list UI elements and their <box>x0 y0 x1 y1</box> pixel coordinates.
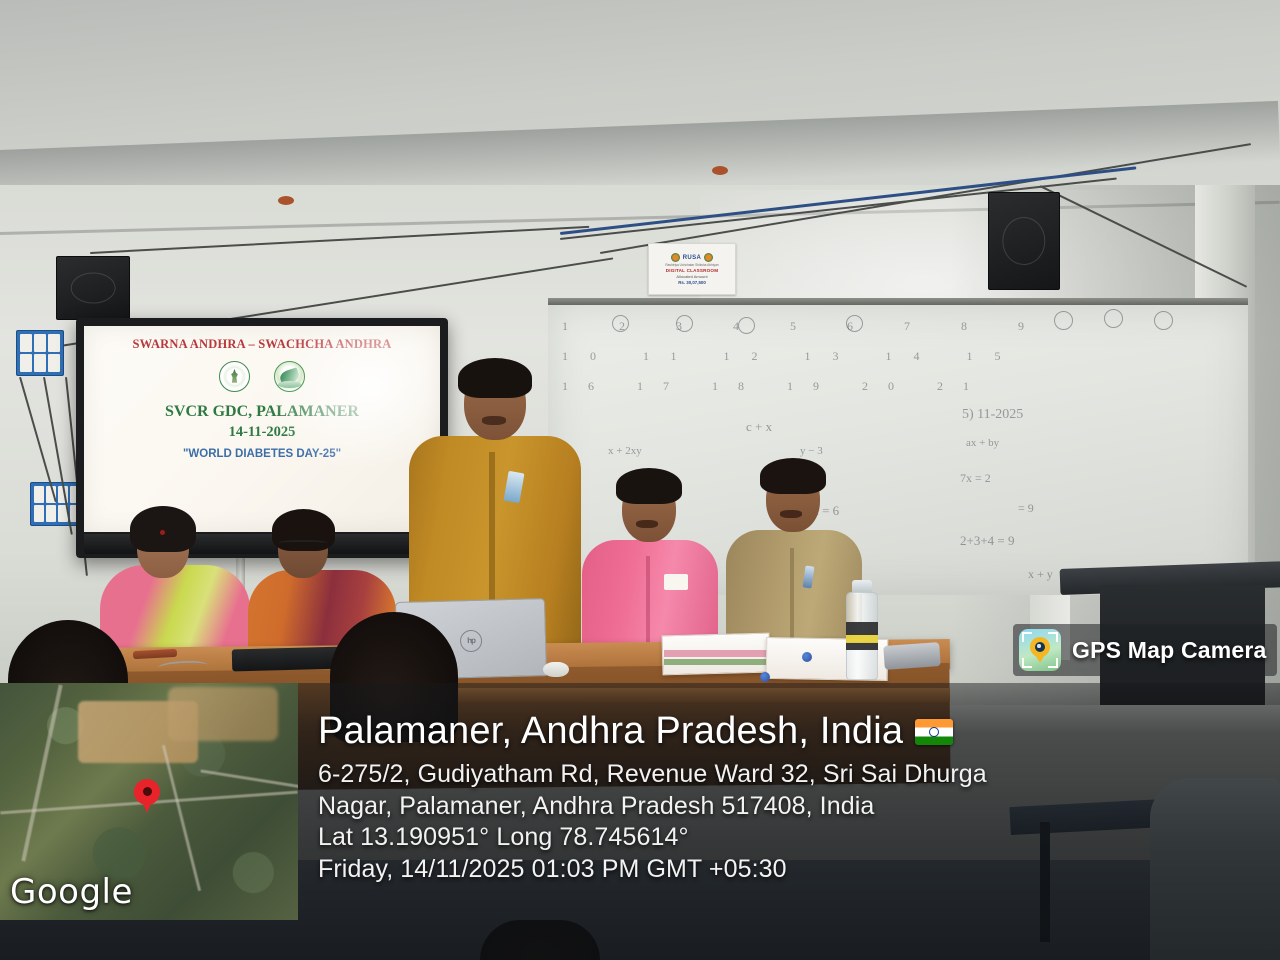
map-road <box>162 745 201 891</box>
pink-file <box>664 650 768 657</box>
map-thumbnail[interactable]: Google <box>0 683 298 920</box>
gps-overlay-text: Palamaner, Andhra Pradesh, India 6-275/2… <box>318 712 1258 886</box>
presentation-slide: SWARNA ANDHRA – SWACHCHA ANDHRA SVCR GDC… <box>84 326 440 532</box>
gps-map-camera-photo: RUSA Rashtriya Uchchatar Shiksha Abhiyan… <box>0 0 1280 960</box>
placard-title: DIGITAL CLASSROOM <box>666 268 718 273</box>
wall-anchor <box>278 196 294 205</box>
green-file <box>664 659 768 665</box>
swachcha-andhra-logo-icon <box>274 361 305 392</box>
hp-logo-icon: hp <box>460 629 483 652</box>
map-road <box>21 685 62 862</box>
placard-brand: RUSA <box>683 255 702 261</box>
blue-pen <box>802 652 812 662</box>
blue-pen <box>760 672 770 682</box>
gps-map-camera-badge: GPS Map Camera <box>1013 624 1277 676</box>
location-title-text: Palamaner, Andhra Pradesh, India <box>318 712 903 752</box>
wall-speaker-left <box>56 256 130 320</box>
rusa-placard: RUSA Rashtriya Uchchatar Shiksha Abhiyan… <box>648 243 736 295</box>
rusa-emblem-icon <box>671 253 680 262</box>
ap-emblem-icon <box>704 253 713 262</box>
placard-subtitle: Rashtriya Uchchatar Shiksha Abhiyan <box>665 263 718 267</box>
placard-amount-label: Allocated Amount <box>676 274 707 279</box>
gps-map-camera-label: GPS Map Camera <box>1072 637 1267 664</box>
map-road <box>200 769 298 789</box>
wall-speaker-right <box>988 192 1060 290</box>
stapler[interactable] <box>883 642 941 670</box>
electrical-switchboard-upper[interactable] <box>16 330 64 376</box>
placard-amount: Rs. 30,07,500 <box>678 280 706 285</box>
gps-camera-pin-icon <box>1019 629 1061 671</box>
location-title: Palamaner, Andhra Pradesh, India <box>318 712 1258 752</box>
andhra-pradesh-emblem-icon <box>219 361 250 392</box>
mobile-phone[interactable] <box>232 647 345 672</box>
coordinates: Lat 13.190951° Long 78.745614° <box>318 822 1258 854</box>
google-watermark: Google <box>10 872 133 912</box>
timestamp: Friday, 14/11/2025 01:03 PM GMT +05:30 <box>318 854 1258 886</box>
water-bottle-label <box>846 622 878 650</box>
address-line-2: Nagar, Palamaner, Andhra Pradesh 517408,… <box>318 791 1258 823</box>
computer-mouse[interactable] <box>543 662 569 677</box>
india-flag-icon <box>915 719 953 745</box>
wall-anchor <box>712 166 728 175</box>
address-line-1: 6-275/2, Gudiyatham Rd, Revenue Ward 32,… <box>318 759 1258 791</box>
location-pin-icon <box>134 779 160 805</box>
map-terrain-patch <box>168 687 278 741</box>
